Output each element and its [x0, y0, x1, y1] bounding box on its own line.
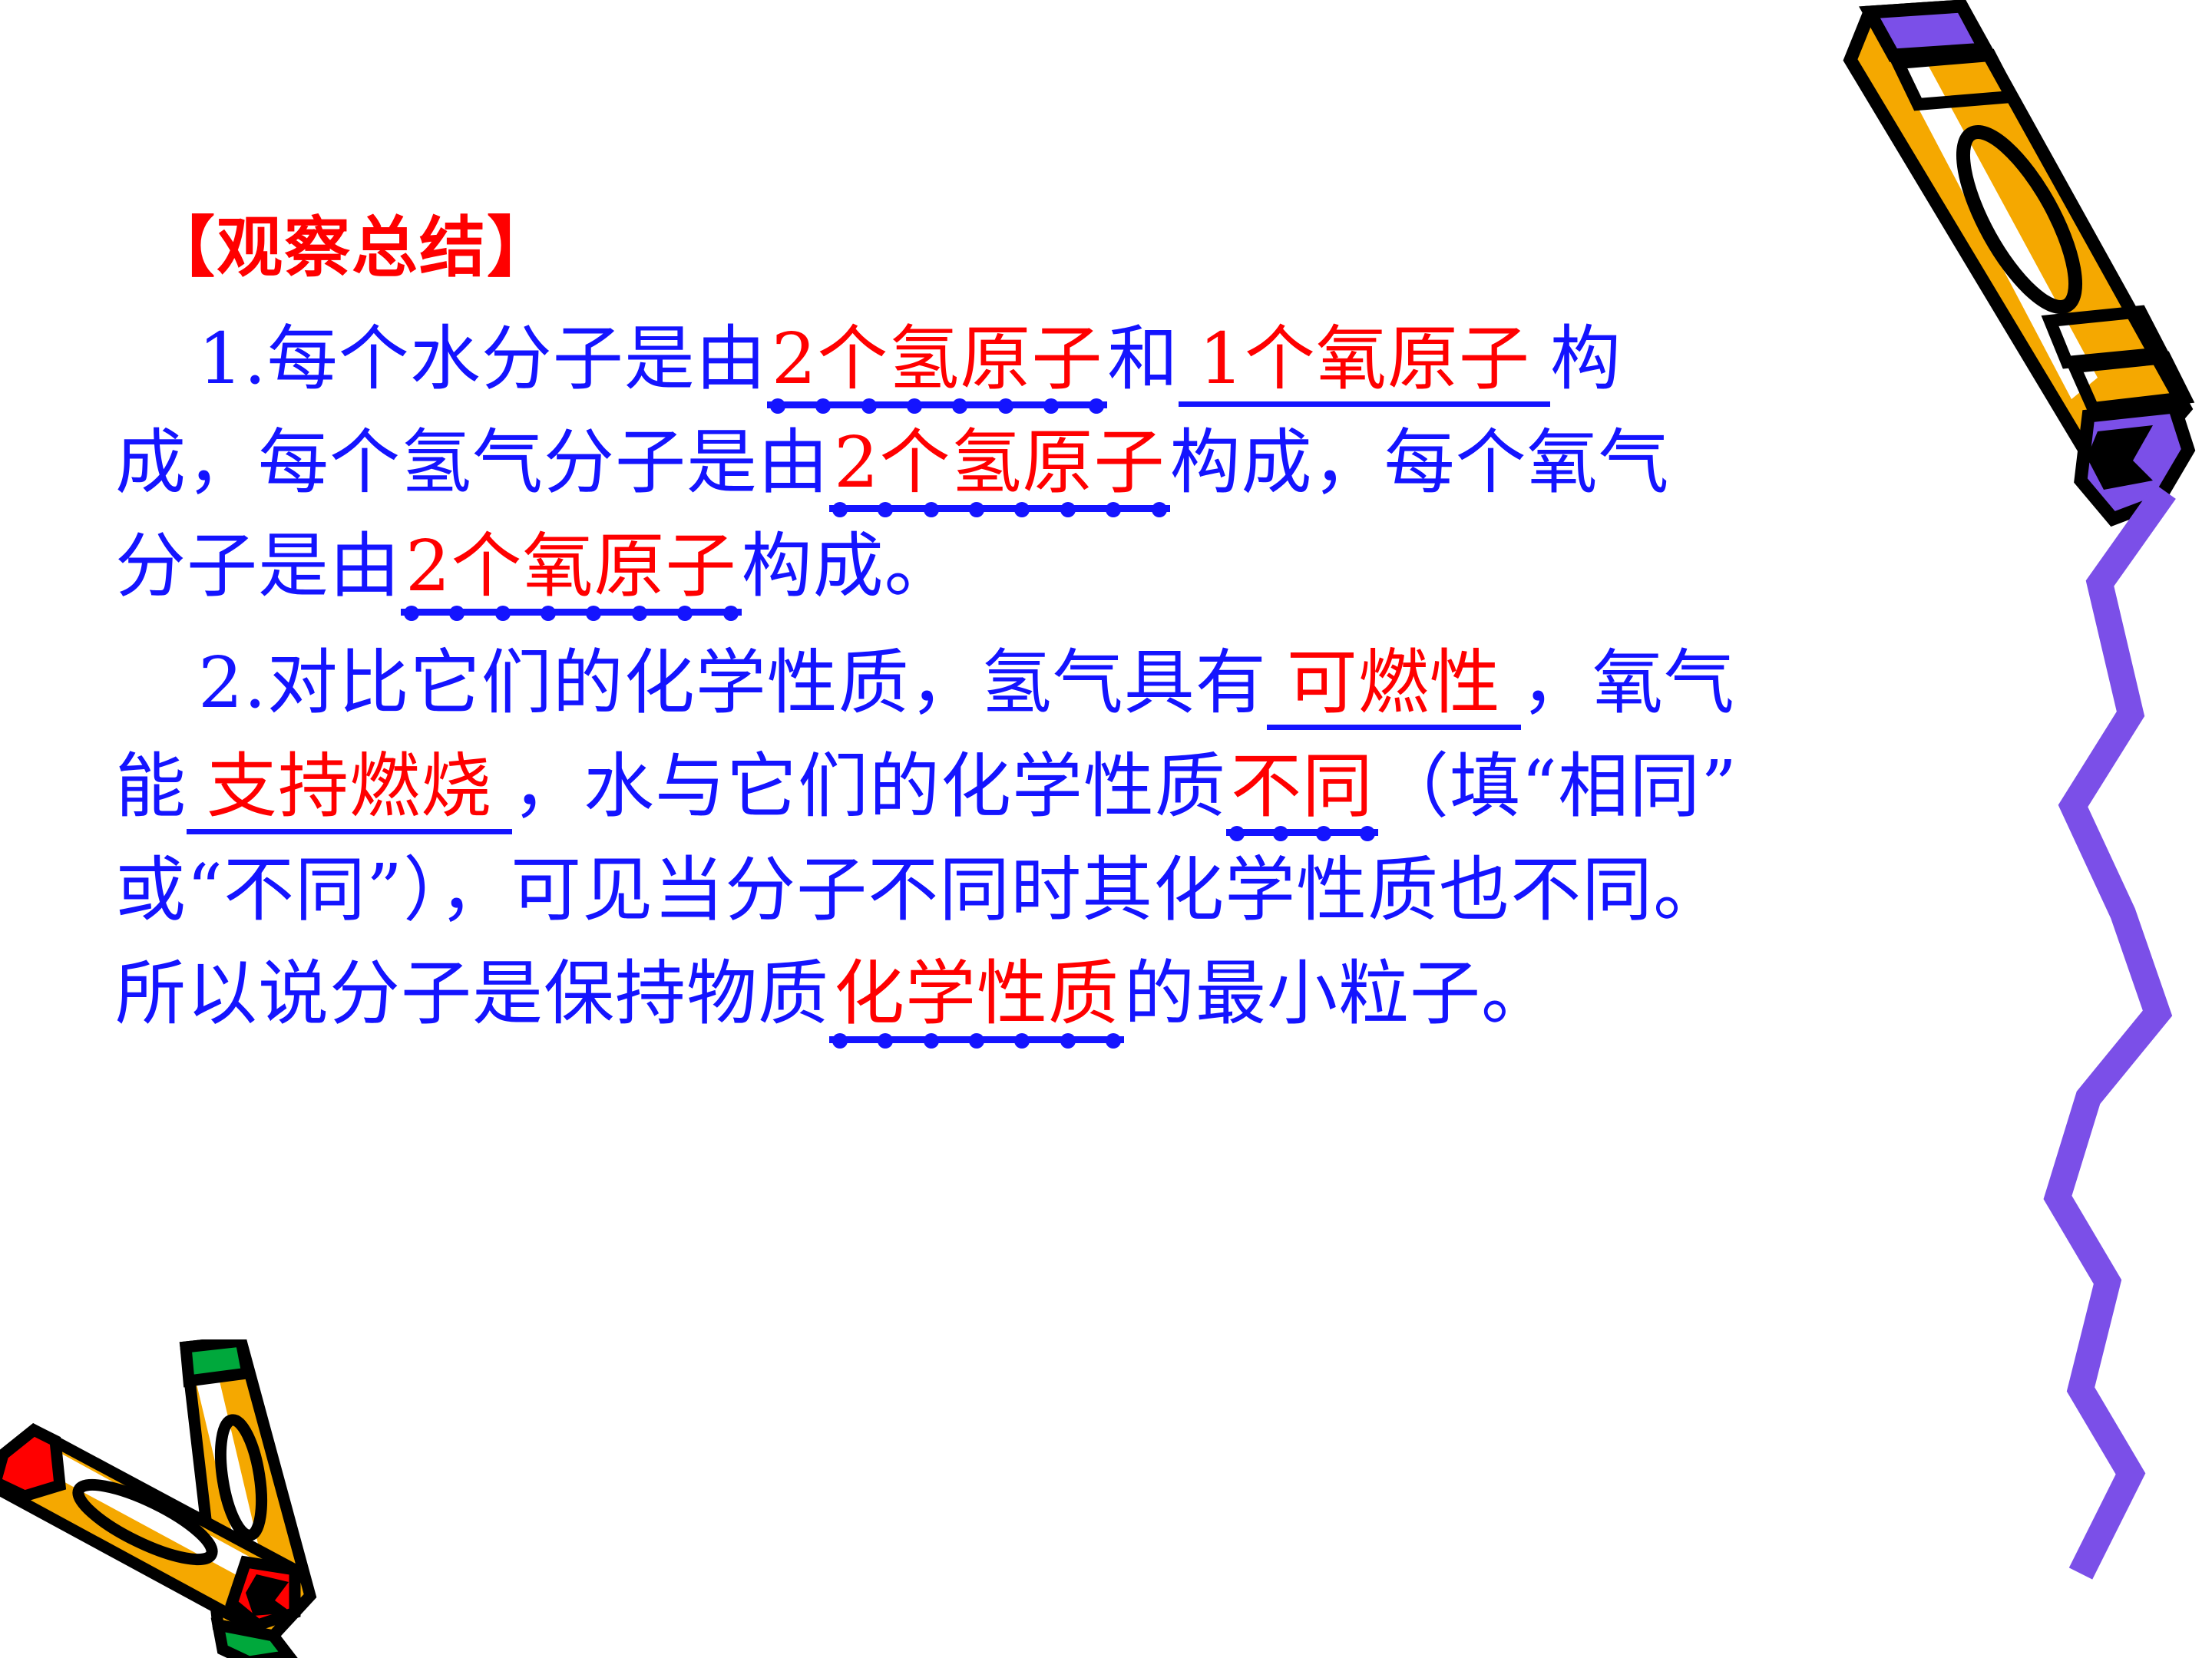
paragraph-item-1: 1.每个水分子是由2个氢原子和1个氧原子构成，每个氢气分子是由2个氢原子构成，每… [115, 307, 2050, 619]
answer-2-text: 1个氧原子 [1199, 318, 1530, 400]
item1-text-6: 分子是由 [115, 525, 401, 607]
answer-blank-3[interactable]: 2个氢原子 [829, 426, 1170, 512]
answer-3-text: 2个氢原子 [834, 421, 1166, 504]
item1-text-5: 构成，每个氧气 [1170, 421, 1670, 504]
answer-8-text: 化学性质 [834, 953, 1119, 1035]
item2-text-7: 所以说分子是保持物质 [115, 953, 829, 1035]
answer-blank-8[interactable]: 化学性质 [829, 957, 1124, 1043]
answer-5-text: 可燃性 [1287, 642, 1501, 724]
list-number-2: 2. [198, 642, 267, 724]
paragraph-item-2: 2.对比它们的化学性质，氢气具有可燃性，氧气能支持燃烧，水与它们的化学性质不同（… [115, 631, 2050, 1046]
item2-text-8: 的最小粒子。 [1124, 953, 1552, 1035]
page-title: 【观察总结】 [149, 215, 2050, 281]
list-number-1: 1. [198, 318, 267, 400]
answer-1-text: 2个氢原子 [772, 318, 1103, 400]
answer-blank-2[interactable]: 1个氧原子 [1179, 322, 1550, 407]
answer-blank-1[interactable]: 2个氢原子 [767, 322, 1108, 408]
item1-text-2: 和 [1107, 318, 1179, 400]
item2-text-2: ，氧气 [1521, 642, 1735, 724]
item2-text-6: 或“不同”），可见当分子不同时其化学性质也不同。 [115, 849, 1724, 931]
item2-text-1: 对比它们的化学性质，氢气具有 [267, 642, 1267, 724]
item1-text-1: 每个水分子是由 [267, 318, 767, 400]
crossed-crayons-icon [0, 1339, 387, 1658]
answer-blank-6[interactable]: 支持燃烧 [187, 750, 512, 834]
item1-text-3: 构 [1550, 318, 1622, 400]
slide-body: 【观察总结】 1.每个水分子是由2个氢原子和1个氧原子构成，每个氢气分子是由2个… [115, 215, 2050, 1046]
item1-text-4: 成，每个氢气分子是由 [115, 421, 829, 504]
item2-text-4: ，水与它们的化学性质 [512, 745, 1226, 827]
answer-blank-4[interactable]: 2个氧原子 [401, 530, 742, 616]
item1-text-7: 构成。 [742, 525, 956, 607]
slide-canvas: 【观察总结】 1.每个水分子是由2个氢原子和1个氧原子构成，每个氢气分子是由2个… [0, 0, 2212, 1658]
answer-blank-7[interactable]: 不同 [1226, 750, 1378, 836]
item2-text-5: （填“相同” [1378, 745, 1738, 827]
answer-7-text: 不同 [1231, 745, 1374, 827]
answer-4-text: 2个氧原子 [405, 525, 737, 607]
item2-text-3: 能 [115, 745, 187, 827]
answer-6-text: 支持燃烧 [207, 745, 492, 827]
answer-blank-5[interactable]: 可燃性 [1267, 646, 1521, 731]
